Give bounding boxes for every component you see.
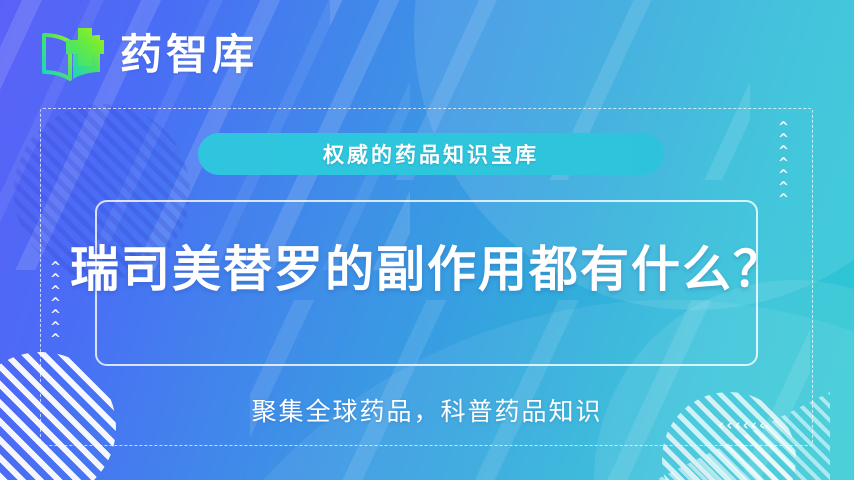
subtitle-pill: 权威的药品知识宝库 — [198, 133, 664, 175]
tagline-container: 聚集全球药品，科普药品知识 — [0, 392, 854, 428]
page-title: 瑞司美替罗的副作用都有什么？ — [70, 243, 784, 297]
subtitle-pill-label: 权威的药品知识宝库 — [323, 139, 539, 169]
tagline-label: 聚集全球药品，科普药品知识 — [251, 392, 602, 428]
chevron-up-icon: ^ — [50, 334, 61, 345]
promo-banner: ^ ^ ^ ^ ^ ^ ^ ^ ^ ^ ^ ^ ^ ^ ‹ ‹ ‹ ‹ ‹ ‹ — [0, 0, 854, 480]
open-book-with-medical-cross-icon — [40, 26, 108, 84]
chevron-column-right: ^ ^ ^ ^ ^ ^ ^ — [778, 122, 789, 205]
headline-container: 瑞司美替罗的副作用都有什么？ — [0, 243, 854, 297]
chevron-up-icon: ^ — [778, 194, 789, 205]
brand-logo[interactable]: 药智库 — [40, 26, 258, 84]
brand-name: 药智库 — [120, 34, 258, 76]
